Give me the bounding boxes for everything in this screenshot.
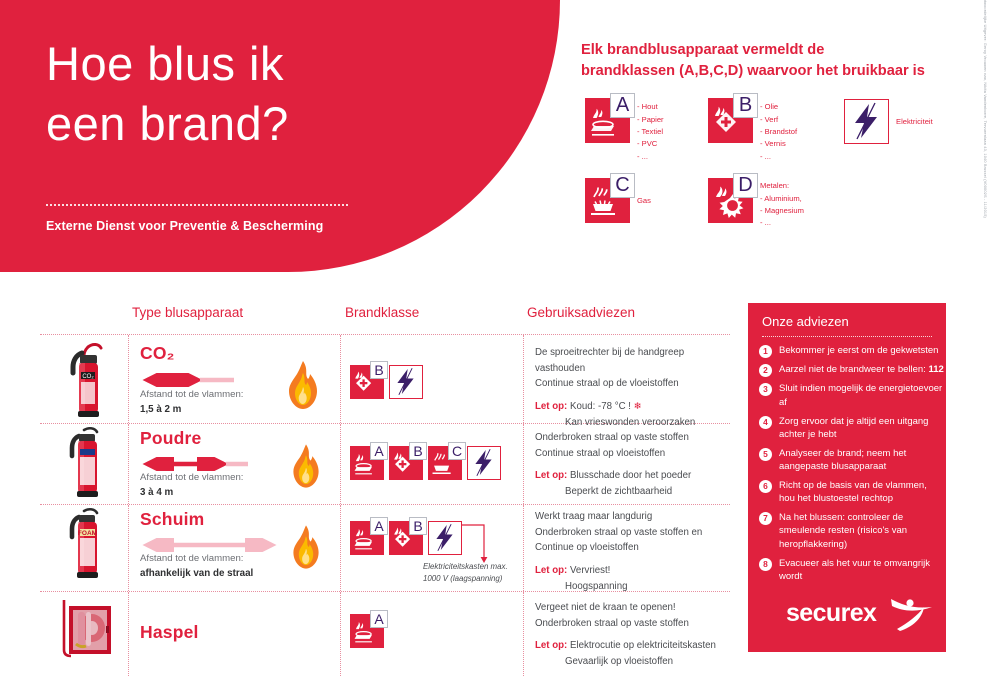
advice-haspel: Vergeet niet de kraan te openen! Onderbr…	[535, 600, 740, 670]
securex-wordmark: securex	[786, 599, 876, 628]
advice-haspel-line0: Vergeet niet de kraan te openen!	[535, 600, 740, 616]
class-a-tile-letter: A	[370, 517, 388, 535]
row-separator-1	[128, 505, 129, 591]
letop-label-poudre: Let op:	[535, 470, 567, 481]
row-separator-3	[523, 592, 524, 676]
tip-number: 2	[759, 364, 772, 377]
class-a-tile-icon: A	[350, 446, 384, 480]
tip-text: Bekommer je eerst om de gekwetsten	[779, 344, 938, 358]
class-icons-co2: B	[350, 365, 423, 399]
fire-classes-heading-line2: brandklassen (A,B,C,D) waarvoor het brui…	[581, 61, 981, 82]
class-d-materials: Metalen: - Aluminium, - Magnesium - ...	[760, 178, 804, 229]
row-name-poudre: Poudre	[140, 428, 202, 449]
tip-text: Aarzel niet de brandweer te bellen: 112	[779, 363, 944, 377]
list-item: 8 Evacueer als het vuur te omvangrijk wo…	[759, 557, 945, 584]
row-separator-1	[128, 424, 129, 504]
class-a-material-0: - Hout	[637, 101, 664, 113]
securex-logo: securex	[786, 596, 936, 634]
class-a-material-3: - PVC	[637, 138, 664, 150]
class-a-tile-icon: A	[350, 614, 384, 648]
letop-label-haspel: Let op:	[535, 640, 567, 651]
row-separator-1	[128, 335, 129, 423]
table-row: CO₂ CO₂ Afstand tot de vlammen: 1,5 à	[40, 335, 730, 423]
hose-reel-icon	[56, 598, 118, 667]
class-b-material-0: - Olie	[760, 101, 797, 113]
letop-label-schuim: Let op:	[535, 565, 567, 576]
column-header-class: Brandklasse	[345, 305, 419, 320]
class-b-tile-letter: B	[409, 442, 427, 460]
advice-co2-letop: Let op: Koud: -78 °C ! ❄	[535, 399, 735, 415]
tip-number: 1	[759, 345, 772, 358]
advice-co2-line1: Continue straal op de vloeistoffen	[535, 376, 735, 392]
tip-number: 7	[759, 512, 772, 525]
row-separator-2	[340, 505, 341, 591]
row-separator-3	[523, 424, 524, 504]
letop-label-co2: Let op:	[535, 401, 567, 412]
fire-class-c: C Gas	[585, 178, 651, 223]
list-item: 5 Analyseer de brand; neem het aangepast…	[759, 447, 945, 474]
class-a-material-2: - Textiel	[637, 126, 664, 138]
class-electricity-pictogram-icon	[844, 99, 889, 144]
class-a-material-4: - ...	[637, 151, 664, 163]
letop-text-co2: Koud: -78 °C !	[570, 401, 631, 412]
list-item: 3 Sluit indien mogelijk de energietoevoe…	[759, 382, 945, 409]
class-electricity-tile-icon	[389, 365, 423, 399]
class-a-materials: - Hout - Papier - Textiel - PVC - ...	[637, 98, 664, 162]
class-a-tile-letter: A	[370, 610, 388, 628]
class-b-tile-letter: B	[370, 361, 388, 379]
class-b-material-2: - Brandstof	[760, 126, 797, 138]
class-icons-schuim: A B	[350, 521, 462, 555]
class-b-material-1: - Verf	[760, 114, 797, 126]
row-separator-3	[523, 335, 524, 423]
tip-text: Evacueer als het vuur te omvangrijk word…	[779, 557, 945, 584]
advice-poudre-line1: Continue straal op vloeistoffen	[535, 446, 735, 462]
advice-schuim-line1: Onderbroken straal op vaste stoffen en	[535, 525, 740, 541]
table-row: Poudre Afstand tot de vlammen: 3 à 4 m	[40, 424, 730, 504]
row-separator-2	[340, 424, 341, 504]
flame-icon-co2	[283, 359, 323, 416]
class-b-letter: B	[733, 93, 758, 118]
advice-poudre-line0: Onderbroken straal op vaste stoffen	[535, 430, 735, 446]
class-b-materials: - Olie - Verf - Brandstof - Vernis - ...	[760, 98, 797, 162]
class-d-material-3: - ...	[760, 217, 804, 229]
class-b-material-3: - Vernis	[760, 138, 797, 150]
fire-class-d: D Metalen: - Aluminium, - Magnesium - ..…	[708, 178, 804, 229]
advice-tips-list: 1 Bekommer je eerst om de gekwetsten 2 A…	[759, 344, 945, 589]
list-item: 2 Aarzel niet de brandweer te bellen: 11…	[759, 363, 945, 377]
distance-label-schuim: Afstand tot de vlammen:	[140, 553, 243, 564]
distance-label-co2: Afstand tot de vlammen:	[140, 389, 243, 400]
list-item: 4 Zorg ervoor dat je altijd een uitgang …	[759, 415, 945, 442]
row-separator-2	[340, 592, 341, 676]
fire-classes-heading-line1: Elk brandblusapparaat vermeldt de	[581, 40, 981, 61]
snowflake-icon: ❄	[634, 401, 642, 412]
table-row: Haspel A Vergeet n	[40, 592, 730, 676]
page-title-line1: Hoe blus ik	[46, 34, 289, 94]
column-header-type: Type blusapparaat	[132, 305, 243, 320]
page-title: Hoe blus ik een brand?	[46, 34, 289, 154]
class-a-material-1: - Papier	[637, 114, 664, 126]
advice-co2-line0: De sproeitrechter bij de handgreep vasth…	[535, 345, 735, 376]
column-header-advice: Gebruiksadviezen	[527, 305, 635, 320]
table-row: FOAM Schuim Afstand tot de vlammen: afha…	[40, 505, 730, 591]
advice-poudre-letop-line2: Beperkt de zichtbaarheid	[535, 484, 735, 500]
class-b-material-4: - ...	[760, 151, 797, 163]
class-c-pictogram-icon: C	[585, 178, 630, 223]
advice-panel-divider	[762, 336, 932, 337]
table-header-row: Type blusapparaat Brandklasse Gebruiksad…	[40, 300, 730, 334]
distance-value-poudre: 3 à 4 m	[140, 487, 173, 498]
class-d-material-2: - Magnesium	[760, 205, 804, 217]
class-b-tile-letter: B	[409, 517, 427, 535]
list-item: 7 Na het blussen: controleer de smeulend…	[759, 511, 945, 551]
class-d-pictogram-icon: D	[708, 178, 753, 223]
class-a-tile-letter: A	[370, 442, 388, 460]
tip-number: 5	[759, 448, 772, 461]
distance-value-schuim: afhankelijk van de straal	[140, 568, 253, 579]
class-electricity-label-wrap: Elektriciteit	[896, 99, 933, 128]
tip-text: Richt op de basis van de vlammen, hou he…	[779, 479, 945, 506]
advice-haspel-letop-line2: Gevaarlijk op vloeistoffen	[535, 654, 740, 670]
class-c-tile-letter: C	[448, 442, 466, 460]
class-a-letter: A	[610, 93, 635, 118]
tip-number: 8	[759, 558, 772, 571]
advice-co2: De sproeitrechter bij de handgreep vasth…	[535, 345, 735, 431]
list-item: 1 Bekommer je eerst om de gekwetsten	[759, 344, 945, 358]
extinguisher-table: Type blusapparaat Brandklasse Gebruiksad…	[40, 300, 730, 676]
securex-figure-icon	[888, 595, 936, 636]
row-name-haspel: Haspel	[140, 622, 199, 643]
advice-poudre: Onderbroken straal op vaste stoffen Cont…	[535, 430, 735, 500]
class-electricity-label: Elektriciteit	[896, 116, 933, 128]
class-b-pictogram-icon: B	[708, 98, 753, 143]
class-c-letter: C	[610, 173, 635, 198]
hero-banner: Hoe blus ik een brand? Externe Dienst vo…	[0, 0, 560, 272]
class-c-tile-icon: C	[428, 446, 462, 480]
row-name-schuim: Schuim	[140, 509, 204, 530]
advice-poudre-letop: Let op: Blusschade door het poeder	[535, 468, 735, 484]
fire-class-electricity: Elektriciteit	[844, 99, 933, 144]
class-electricity-tile-icon	[467, 446, 501, 480]
class-a-pictogram-icon: A	[585, 98, 630, 143]
class-d-letter: D	[733, 173, 758, 198]
svg-text:FOAM: FOAM	[78, 530, 97, 537]
advice-schuim: Werkt traag maar langdurig Onderbroken s…	[535, 509, 740, 595]
tip-text: Na het blussen: controleer de smeulende …	[779, 511, 945, 551]
class-a-tile-icon: A	[350, 521, 384, 555]
class-b-tile-icon: B	[389, 446, 423, 480]
class-c-materials: Gas	[637, 178, 651, 207]
row-name-co2: CO₂	[140, 343, 175, 364]
advice-schuim-letop: Let op: Vervriest!	[535, 563, 740, 579]
powder-extinguisher-icon	[58, 426, 110, 507]
letop-text-schuim: Vervriest!	[570, 565, 610, 576]
class-c-material-0: Gas	[637, 195, 651, 207]
tip-text-main: Aarzel niet de brandweer te bellen:	[779, 364, 928, 375]
tip-text: Sluit indien mogelijk de energietoevoer …	[779, 382, 945, 409]
advice-haspel-line1: Onderbroken straal op vaste stoffen	[535, 616, 740, 632]
list-item: 6 Richt op de basis van de vlammen, hou …	[759, 479, 945, 506]
tip-number: 6	[759, 480, 772, 493]
fire-classes-grid: A - Hout - Papier - Textiel - PVC - ...	[581, 98, 981, 258]
flame-icon-schuim	[288, 523, 324, 576]
advice-haspel-letop: Let op: Elektrocutie op elektriciteitska…	[535, 638, 740, 654]
advice-panel-title: Onze adviezen	[762, 314, 849, 329]
advice-schuim-line2: Continue op vloeistoffen	[535, 540, 740, 556]
emergency-number: 112	[928, 364, 943, 375]
distance-value-co2: 1,5 à 2 m	[140, 404, 181, 415]
co2-extinguisher-icon: CO₂	[58, 341, 110, 424]
infographic-page: Hoe blus ik een brand? Externe Dienst vo…	[0, 0, 987, 698]
row-separator-2	[340, 335, 341, 423]
class-icons-poudre: A B	[350, 446, 501, 480]
foam-extinguisher-icon: FOAM	[58, 507, 110, 588]
advice-panel: Onze adviezen 1 Bekommer je eerst om de …	[748, 303, 946, 652]
fire-class-b: B - Olie - Verf - Brandstof - Vernis - .…	[708, 98, 797, 162]
class-d-material-1: - Aluminium,	[760, 193, 804, 205]
fire-class-a: A - Hout - Papier - Textiel - PVC - ...	[585, 98, 664, 162]
tip-text: Zorg ervoor dat je altijd een uitgang ac…	[779, 415, 945, 442]
advice-schuim-line0: Werkt traag maar langdurig	[535, 509, 740, 525]
class-b-tile-icon: B	[389, 521, 423, 555]
page-title-line2: een brand?	[46, 94, 289, 154]
class-b-tile-icon: B	[350, 365, 384, 399]
fire-classes-heading: Elk brandblusapparaat vermeldt de brandk…	[581, 40, 981, 82]
distance-label-poudre: Afstand tot de vlammen:	[140, 472, 243, 483]
class-icons-haspel: A	[350, 614, 384, 648]
class-electricity-tile-icon	[428, 521, 462, 555]
svg-text:CO₂: CO₂	[82, 374, 94, 380]
hero-divider	[46, 204, 348, 206]
letop-text-poudre: Blusschade door het poeder	[570, 470, 691, 481]
letop-text-haspel: Elektrocutie op elektriciteitskasten	[570, 640, 716, 651]
tip-text: Analyseer de brand; neem het aangepaste …	[779, 447, 945, 474]
class-d-material-0: Metalen:	[760, 180, 804, 192]
tip-number: 4	[759, 416, 772, 429]
publisher-credit: Verantwoordelijke Uitgever: Geroy Vrouwe…	[983, 0, 987, 218]
tip-number: 3	[759, 383, 772, 396]
hero-subtitle: Externe Dienst voor Preventie & Bescherm…	[46, 219, 323, 233]
flame-icon-poudre	[288, 442, 324, 495]
fire-classes-section: Elk brandblusapparaat vermeldt de brandk…	[581, 40, 981, 258]
row-separator-1	[128, 592, 129, 676]
